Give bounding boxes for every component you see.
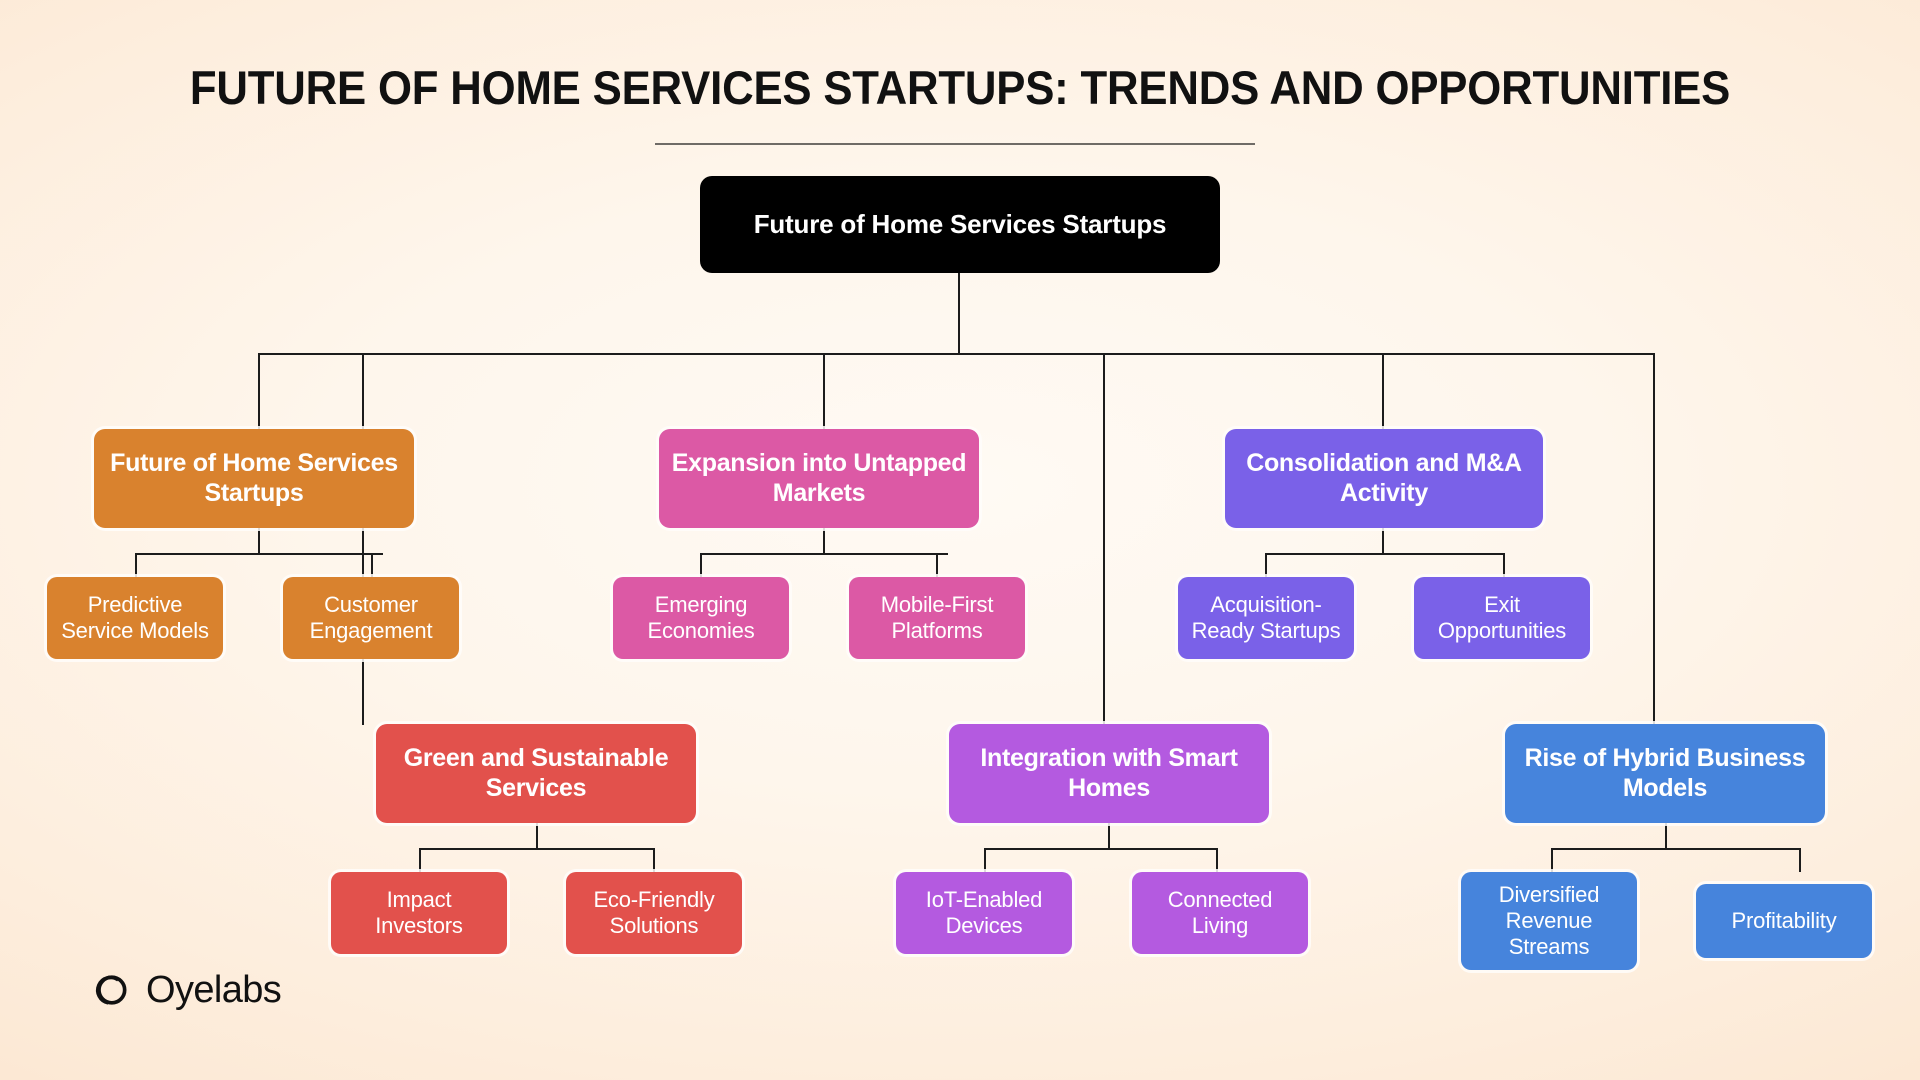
node-branch-future-of-home-services-startups[interactable]: Future of Home Services Startups: [94, 429, 414, 528]
connector-drop-branch-3: [823, 353, 825, 429]
connector-drop-b2-child-1: [419, 848, 421, 872]
node-leaf-connected-living[interactable]: Connected Living: [1132, 872, 1308, 954]
connector-stem-branch-5: [1382, 528, 1384, 554]
connector-root-stem: [958, 272, 960, 354]
node-leaf-label: Emerging Economies: [613, 592, 789, 644]
node-branch-label: Future of Home Services Startups: [94, 449, 414, 508]
node-branch-label: Rise of Hybrid Business Models: [1505, 744, 1825, 803]
node-branch-integration-with-smart-homes[interactable]: Integration with Smart Homes: [949, 724, 1269, 823]
node-branch-green-and-sustainable-services[interactable]: Green and Sustainable Services: [376, 724, 696, 823]
node-branch-label: Green and Sustainable Services: [376, 744, 696, 803]
connector-bus-branch-5: [1265, 553, 1505, 555]
connector-stem-branch-2: [536, 823, 538, 849]
connector-drop-b4-child-1: [984, 848, 986, 872]
brand-logo[interactable]: Oyelabs: [88, 968, 281, 1012]
connector-bus-branch-6: [1551, 848, 1801, 850]
brand-name: Oyelabs: [146, 969, 281, 1012]
connector-drop-b6-child-1: [1551, 848, 1553, 872]
node-branch-consolidation-and-ma-activity[interactable]: Consolidation and M&A Activity: [1225, 429, 1543, 528]
node-branch-label: Consolidation and M&A Activity: [1225, 449, 1543, 508]
node-leaf-label: Exit Opportunities: [1414, 592, 1590, 644]
connector-bus-branch-3: [700, 553, 948, 555]
connector-stem-branch-1: [258, 528, 260, 554]
oyelabs-spiral-icon: [88, 968, 132, 1012]
node-leaf-emerging-economies[interactable]: Emerging Economies: [613, 577, 789, 659]
connector-drop-branch-4: [1103, 353, 1105, 725]
node-leaf-label: Diversified Revenue Streams: [1461, 882, 1637, 960]
connector-drop-b2-child-2: [653, 848, 655, 872]
connector-drop-b3-child-1: [700, 553, 702, 577]
connector-drop-b1-child-2: [371, 553, 373, 577]
node-leaf-predictive-service-models[interactable]: Predictive Service Models: [47, 577, 223, 659]
node-leaf-label: Profitability: [1722, 908, 1847, 934]
connector-drop-branch-5: [1382, 353, 1384, 429]
node-leaf-label: Predictive Service Models: [47, 592, 223, 644]
node-leaf-label: Customer Engagement: [283, 592, 459, 644]
connector-stem-branch-4: [1108, 823, 1110, 849]
connector-bus-branch-1: [135, 553, 383, 555]
node-leaf-mobile-first-platforms[interactable]: Mobile-First Platforms: [849, 577, 1025, 659]
connector-drop-b5-child-2: [1503, 553, 1505, 577]
connector-drop-b4-child-2: [1216, 848, 1218, 872]
diagram-canvas: FUTURE OF HOME SERVICES STARTUPS: TRENDS…: [0, 0, 1920, 1080]
node-root[interactable]: Future of Home Services Startups: [700, 176, 1220, 273]
connector-drop-b3-child-2: [936, 553, 938, 577]
connector-drop-branch-1: [258, 353, 260, 429]
node-leaf-impact-investors[interactable]: Impact Investors: [331, 872, 507, 954]
node-leaf-exit-opportunities[interactable]: Exit Opportunities: [1414, 577, 1590, 659]
node-leaf-label: Eco-Friendly Solutions: [566, 887, 742, 939]
node-branch-label: Integration with Smart Homes: [949, 744, 1269, 803]
title-underline: [655, 143, 1255, 145]
node-leaf-iot-enabled-devices[interactable]: IoT-Enabled Devices: [896, 872, 1072, 954]
page-title: FUTURE OF HOME SERVICES STARTUPS: TRENDS…: [67, 60, 1853, 115]
node-leaf-profitability[interactable]: Profitability: [1696, 884, 1872, 958]
connector-main-bus: [258, 353, 1655, 355]
node-leaf-label: Mobile-First Platforms: [849, 592, 1025, 644]
connector-drop-b5-child-1: [1265, 553, 1267, 577]
node-leaf-acquisition-ready-startups[interactable]: Acquisition-Ready Startups: [1178, 577, 1354, 659]
node-branch-rise-of-hybrid-business-models[interactable]: Rise of Hybrid Business Models: [1505, 724, 1825, 823]
node-leaf-eco-friendly-solutions[interactable]: Eco-Friendly Solutions: [566, 872, 742, 954]
node-leaf-diversified-revenue-streams[interactable]: Diversified Revenue Streams: [1461, 872, 1637, 970]
node-branch-expansion-into-untapped-markets[interactable]: Expansion into Untapped Markets: [659, 429, 979, 528]
connector-stem-branch-6: [1665, 823, 1667, 849]
node-branch-label: Expansion into Untapped Markets: [659, 449, 979, 508]
node-leaf-label: Impact Investors: [331, 887, 507, 939]
node-leaf-customer-engagement[interactable]: Customer Engagement: [283, 577, 459, 659]
connector-drop-b1-child-1: [135, 553, 137, 577]
connector-drop-branch-2: [362, 353, 364, 725]
connector-bus-branch-2: [419, 848, 655, 850]
node-root-label: Future of Home Services Startups: [744, 209, 1177, 240]
node-leaf-label: Connected Living: [1132, 887, 1308, 939]
connector-bus-branch-4: [984, 848, 1218, 850]
node-leaf-label: IoT-Enabled Devices: [896, 887, 1072, 939]
connector-drop-b6-child-2: [1799, 848, 1801, 872]
node-leaf-label: Acquisition-Ready Startups: [1178, 592, 1354, 644]
connector-stem-branch-3: [823, 528, 825, 554]
connector-drop-branch-6: [1653, 353, 1655, 725]
